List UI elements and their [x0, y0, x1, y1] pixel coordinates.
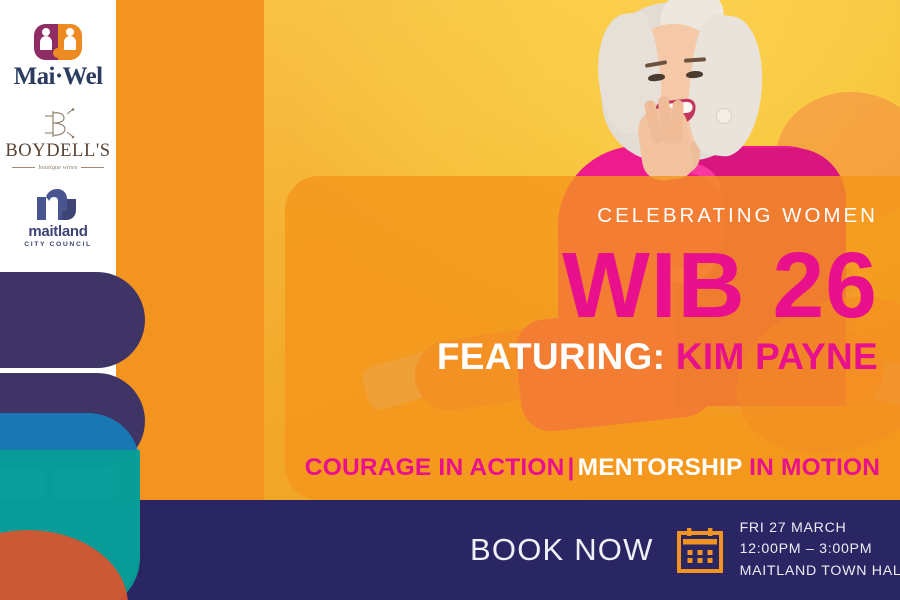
sponsor-logos: Mai·Wel BOYDELL'S boutique wines — [0, 0, 116, 268]
mai-wel-wordmark: Mai·Wel — [14, 64, 103, 89]
sponsor-maitland-city-council: maitland CITY COUNCIL — [8, 187, 108, 249]
sponsor-boydells: BOYDELL'S boutique wines — [8, 107, 108, 171]
kicker-text: CELEBRATING WOMEN — [285, 206, 878, 227]
maitland-m-logo-icon — [35, 187, 81, 221]
boydells-wordmark: BOYDELL'S — [5, 142, 110, 161]
event-details: FRI 27 MARCH 12:00PM – 3:00PM MAITLAND T… — [740, 518, 900, 582]
purple-pill-top — [0, 272, 145, 368]
tagline-divider: | — [565, 454, 578, 481]
rule-left — [12, 167, 35, 168]
maitland-wordmark: maitland — [28, 224, 87, 239]
booking-row[interactable]: BOOK NOW FRI 27 MARCH 12:00PM – 3:00PM M… — [470, 500, 900, 600]
event-venue: MAITLAND TOWN HALL — [740, 561, 900, 582]
event-date: FRI 27 MARCH — [740, 518, 900, 539]
book-now-button[interactable]: BOOK NOW — [470, 532, 654, 568]
sponsor-mai-wel: Mai·Wel — [8, 22, 108, 89]
maitland-subtext: CITY COUNCIL — [24, 242, 91, 249]
rule-right — [81, 167, 104, 168]
calendar-icon — [676, 526, 724, 574]
event-promo-poster: CELEBRATING WOMEN WIB 26 FEATURING: KIM … — [0, 0, 900, 600]
mai-wel-logo-icon — [30, 22, 86, 62]
tagline-part-2: MENTORSHIP — [578, 454, 742, 481]
finger-3 — [671, 100, 684, 144]
featuring-line: FEATURING: KIM PAYNE — [285, 338, 878, 375]
headline-text-group: CELEBRATING WOMEN WIB 26 FEATURING: KIM … — [285, 176, 900, 500]
page-title: WIB 26 — [285, 241, 878, 330]
boydells-monogram-icon — [37, 107, 79, 141]
tagline-part-3: IN MOTION — [749, 454, 880, 481]
featuring-label: FEATURING: — [437, 336, 665, 377]
boydells-tagline: boutique wines — [39, 165, 78, 171]
tagline: COURAGE IN ACTION|MENTORSHIP IN MOTION — [285, 456, 900, 481]
boydells-tagline-row: boutique wines — [12, 165, 104, 171]
earring — [716, 108, 732, 124]
featuring-name: KIM PAYNE — [676, 336, 878, 377]
tagline-part-1: COURAGE IN ACTION — [305, 454, 565, 481]
event-time: 12:00PM – 3:00PM — [740, 539, 900, 560]
